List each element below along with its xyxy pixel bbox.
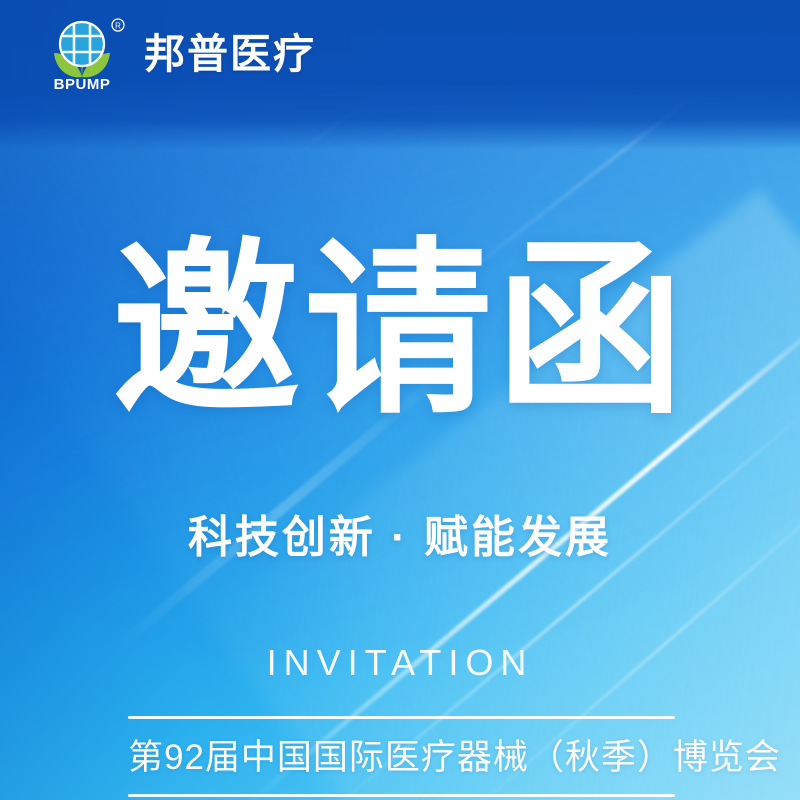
footer-rule-bottom [128, 794, 675, 797]
registered-trademark-icon: R [112, 19, 124, 31]
subtitle-slogan: 科技创新 · 赋能发展 [0, 512, 800, 565]
page-title: 邀请函 [0, 236, 800, 424]
svg-text:R: R [115, 21, 121, 30]
brand-name: 邦普医疗 [144, 34, 316, 75]
invitation-poster: R BPUMP 邦普医疗 邀请函 科技创新 · 赋能发展 INVITATION … [0, 0, 800, 800]
event-name: 第92届中国国际医疗器械（秋季）博览会 [128, 719, 675, 794]
bpump-wordmark: BPUMP [54, 76, 111, 91]
bpump-globe-logo-icon: R BPUMP [44, 17, 128, 91]
poster-content: 邀请函 科技创新 · 赋能发展 INVITATION [0, 0, 800, 800]
poster-footer: 第92届中国国际医疗器械（秋季）博览会 [128, 716, 675, 797]
poster-header: R BPUMP 邦普医疗 [0, 0, 800, 108]
invitation-english-label: INVITATION [0, 645, 800, 681]
